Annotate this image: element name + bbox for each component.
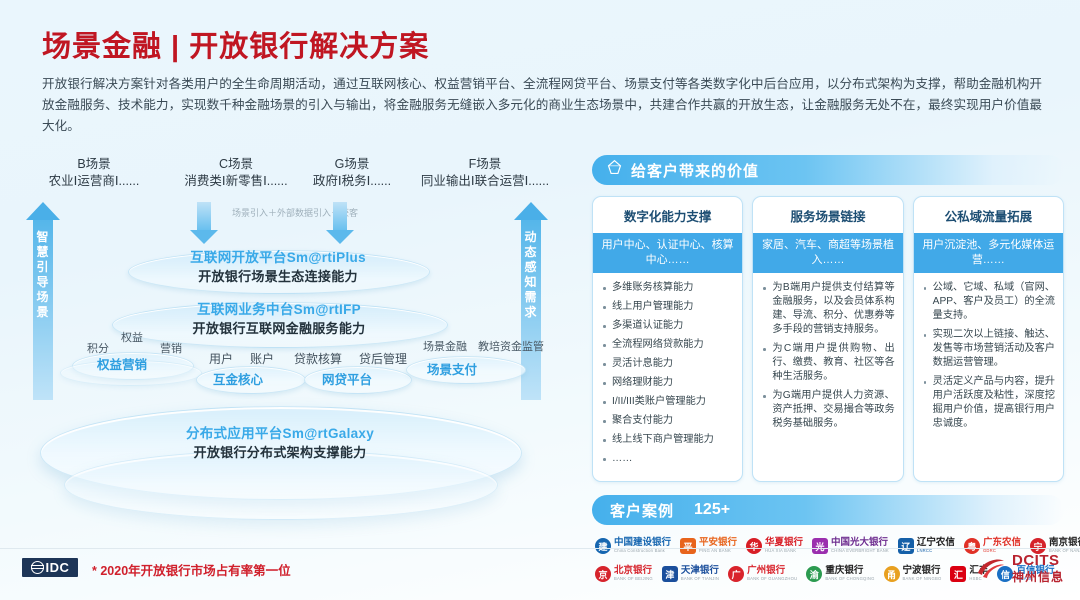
bank-mark-icon: 华 — [746, 538, 762, 554]
logo-lnrcc: 辽 辽宁农信LNRCC — [895, 534, 958, 558]
list-item: 多维账务核算能力 — [601, 281, 734, 295]
bank-mark-icon: 津 — [662, 566, 678, 582]
logo-en: BANK OF CHONGQING — [825, 577, 874, 581]
value-panel-title: 给客户带来的价值 — [631, 160, 759, 181]
logo-cn: 中国建设银行 — [614, 538, 671, 548]
card-item-list: 为B端用户提供支付结算等金融服务，以及会员体系构建、导流、积分、优惠券等多手段的… — [753, 273, 902, 446]
platform-name: 互联网业务中台Sm@rtIFP — [112, 298, 446, 318]
layer-1-labels: 互联网开放平台Sm@rtiPlus 开放银行场景生态连接能力 — [128, 246, 428, 285]
module-label-quanyi: 权益营销 — [97, 354, 147, 373]
cases-title: 客户案例 — [610, 500, 674, 521]
page-description: 开放银行解决方案针对各类用户的全生命周期活动，通过互联网核心、权益营销平台、全流… — [42, 74, 1042, 137]
logo-en: BANK OF TIANJIN — [681, 577, 719, 581]
cases-count: 125+ — [694, 501, 730, 519]
bank-mark-icon: 渝 — [806, 566, 822, 582]
bank-mark-icon: 粤 — [964, 538, 980, 554]
list-item: 多渠道认证能力 — [601, 319, 734, 333]
platform-capability: 开放银行分布式架构支撑能力 — [40, 442, 520, 461]
architecture-diagram: B场景 农业Ⅰ运营商Ⅰ...... C场景 消费类Ⅰ新零售Ⅰ...... G场景… — [0, 150, 572, 520]
card-subtitle: 家居、汽车、商超等场景植入…… — [753, 233, 902, 273]
card-title: 公私域流量拓展 — [914, 197, 1063, 233]
list-item: 实现二次以上链接、触达、发售等市场营销活动及客户数据运营管理。 — [922, 328, 1055, 370]
logo-pingan: 平 平安银行PING AN BANK — [677, 534, 740, 558]
logo-en: China Construction Bank — [614, 549, 671, 553]
list-item: 线上线下商户管理能力 — [601, 433, 734, 447]
bank-mark-icon: 辽 — [898, 538, 914, 554]
card-title: 数字化能力支撑 — [593, 197, 742, 233]
platform-name: 互联网开放平台Sm@rtiPlus — [128, 246, 428, 266]
footnote: * 2020年开放银行市场占有率第一位 — [92, 560, 291, 579]
list-item: 为G端用户提供人力资源、资产抵押、交易撮合等政务税务基础服务。 — [761, 389, 894, 431]
logo-everbright: 光 中国光大银行CHINA EVERBRIGHT BANK — [809, 534, 892, 558]
globe-icon — [31, 561, 44, 574]
platform-capability: 开放银行场景生态连接能力 — [128, 266, 428, 285]
card-subtitle: 用户沉淀池、多元化媒体运营…… — [914, 233, 1063, 273]
card-title: 服务场景链接 — [753, 197, 902, 233]
card-subtitle: 用户中心、认证中心、核算中心…… — [593, 233, 742, 273]
dcits-brand: DCITS 神州信息 — [976, 553, 1064, 583]
scene-detail: 同业输出Ⅰ联合运营Ⅰ...... — [395, 172, 575, 190]
logo-cn: 北京银行 — [614, 566, 653, 576]
logo-tianjin: 津 天津银行BANK OF TIANJIN — [659, 562, 722, 586]
layer-2-labels: 互联网业务中台Sm@rtIFP 开放银行互联网金融服务能力 — [112, 298, 446, 337]
diamond-icon — [606, 159, 623, 181]
logo-cn: 南京银行 — [1049, 538, 1080, 548]
module-label-zhifu: 场景支付 — [427, 359, 477, 378]
bank-mark-icon: 甬 — [884, 566, 900, 582]
list-item: 为B端用户提供支付结算等金融服务，以及会员体系构建、导流、积分、优惠券等多手段的… — [761, 281, 894, 337]
logo-beijing: 京 北京银行BANK OF BEIJING — [592, 562, 656, 586]
list-item: 线上用户管理能力 — [601, 300, 734, 314]
module-tag-quanyi: 权益 — [121, 329, 143, 345]
module-tag-yonghu: 用户 — [209, 350, 233, 367]
list-item: 网络理财能力 — [601, 376, 734, 390]
logo-cn: 平安银行 — [699, 538, 737, 548]
idc-logo-text: IDC — [46, 560, 70, 575]
scene-name: F场景 — [395, 156, 575, 172]
logo-en: BANK OF NINGBO — [903, 577, 942, 581]
value-panel: 给客户带来的价值 数字化能力支撑 用户中心、认证中心、核算中心…… 多维账务核算… — [592, 155, 1064, 590]
list-item: 全流程网络贷款能力 — [601, 338, 734, 352]
logo-ningbo: 甬 宁波银行BANK OF NINGBO — [881, 562, 945, 586]
value-card-list: 数字化能力支撑 用户中心、认证中心、核算中心…… 多维账务核算能力 线上用户管理… — [592, 196, 1064, 482]
list-item: 灵活计息能力 — [601, 357, 734, 371]
slide-root: 场景金融 | 开放银行解决方案 开放银行解决方案针对各类用户的全生命周期活动，通… — [0, 0, 1080, 600]
scene-column-f: F场景 同业输出Ⅰ联合运营Ⅰ...... — [395, 156, 575, 190]
bank-mark-icon: 汇 — [950, 566, 966, 582]
logo-cn: 辽宁农信 — [917, 538, 955, 548]
module-tag-jiaopei: 教培资金监管 — [478, 338, 544, 354]
bank-mark-icon: 京 — [595, 566, 611, 582]
platform-name: 分布式应用平台Sm@rtGalaxy — [40, 422, 520, 442]
cases-heading: 客户案例 125+ — [592, 495, 1064, 525]
bank-mark-icon: 广 — [728, 566, 744, 582]
logo-huaxia: 华 华夏银行HUA XIA BANK — [743, 534, 806, 558]
logo-en: PING AN BANK — [699, 549, 737, 553]
logo-cn: 广州银行 — [747, 566, 797, 576]
logo-cn: 华夏银行 — [765, 538, 803, 548]
logo-ccb: 建 中国建设银行China Construction Bank — [592, 534, 674, 558]
right-axis-label: 动态感知需求 — [521, 230, 541, 320]
module-tag-daikuan: 贷款核算 — [294, 350, 342, 367]
value-card-digital: 数字化能力支撑 用户中心、认证中心、核算中心…… 多维账务核算能力 线上用户管理… — [592, 196, 743, 482]
logo-chongqing: 渝 重庆银行BANK OF CHONGQING — [803, 562, 877, 586]
left-axis-label: 智慧引导场景 — [33, 230, 53, 320]
platform-capability: 开放银行互联网金融服务能力 — [112, 318, 446, 337]
module-label-wangdai: 网贷平台 — [322, 369, 372, 388]
value-card-traffic: 公私域流量拓展 用户沉淀池、多元化媒体运营…… 公域、它域、私域（官网、APP、… — [913, 196, 1064, 482]
list-item: …… — [601, 452, 734, 466]
idc-logo: IDC — [22, 558, 78, 577]
footer-divider — [0, 548, 1080, 549]
dcits-brand-cn: 神州信息 — [1012, 571, 1064, 583]
value-panel-heading: 给客户带来的价值 — [592, 155, 1064, 185]
logo-en: CHINA EVERBRIGHT BANK — [831, 549, 889, 553]
logo-en: BANK OF GUANGZHOU — [747, 577, 797, 581]
list-item: 为C端用户提供购物、出行、缴费、教育、社区等各种生活服务。 — [761, 342, 894, 384]
bank-mark-icon: 光 — [812, 538, 828, 554]
logo-cn: 广东农信 — [983, 538, 1021, 548]
card-item-list: 多维账务核算能力 线上用户管理能力 多渠道认证能力 全流程网络贷款能力 灵活计息… — [593, 273, 742, 481]
module-tag-zhanghu: 账户 — [250, 350, 274, 367]
scene-down-arrow-g — [326, 202, 354, 244]
logo-en: BANK OF BEIJING — [614, 577, 653, 581]
bank-mark-icon: 平 — [680, 538, 696, 554]
module-tag-daihou: 贷后管理 — [359, 350, 407, 367]
logo-cn: 天津银行 — [681, 566, 719, 576]
list-item: I/II/III类账户管理能力 — [601, 395, 734, 409]
logo-en: HUA XIA BANK — [765, 549, 803, 553]
dcits-brand-en: DCITS — [1012, 553, 1064, 568]
card-item-list: 公域、它域、私域（官网、APP、客户及员工）的全流量支持。 实现二次以上链接、触… — [914, 273, 1063, 446]
logo-cn: 宁波银行 — [903, 566, 942, 576]
layer-3-labels: 分布式应用平台Sm@rtGalaxy 开放银行分布式架构支撑能力 — [40, 422, 520, 461]
logo-guangzhou: 广 广州银行BANK OF GUANGZHOU — [725, 562, 800, 586]
list-item: 聚合支付能力 — [601, 414, 734, 428]
bank-mark-icon: 建 — [595, 538, 611, 554]
logo-en: LNRCC — [917, 549, 955, 553]
value-card-service-scene: 服务场景链接 家居、汽车、商超等场景植入…… 为B端用户提供支付结算等金融服务，… — [752, 196, 903, 482]
list-item: 灵活定义产品与内容，提升用户活跃度及粘性，深度挖掘用户价值，提高银行用户忠诚度。 — [922, 375, 1055, 431]
list-item: 公域、它域、私域（官网、APP、客户及员工）的全流量支持。 — [922, 281, 1055, 323]
page-title: 场景金融 | 开放银行解决方案 — [42, 23, 429, 65]
scene-down-arrow-c — [190, 202, 218, 244]
logo-cn: 重庆银行 — [825, 566, 874, 576]
logo-cn: 中国光大银行 — [831, 538, 889, 548]
dcits-swoosh-icon — [976, 555, 1006, 581]
module-label-hujin: 互金核心 — [213, 369, 263, 388]
module-tag-changjing: 场景金融 — [423, 338, 467, 354]
